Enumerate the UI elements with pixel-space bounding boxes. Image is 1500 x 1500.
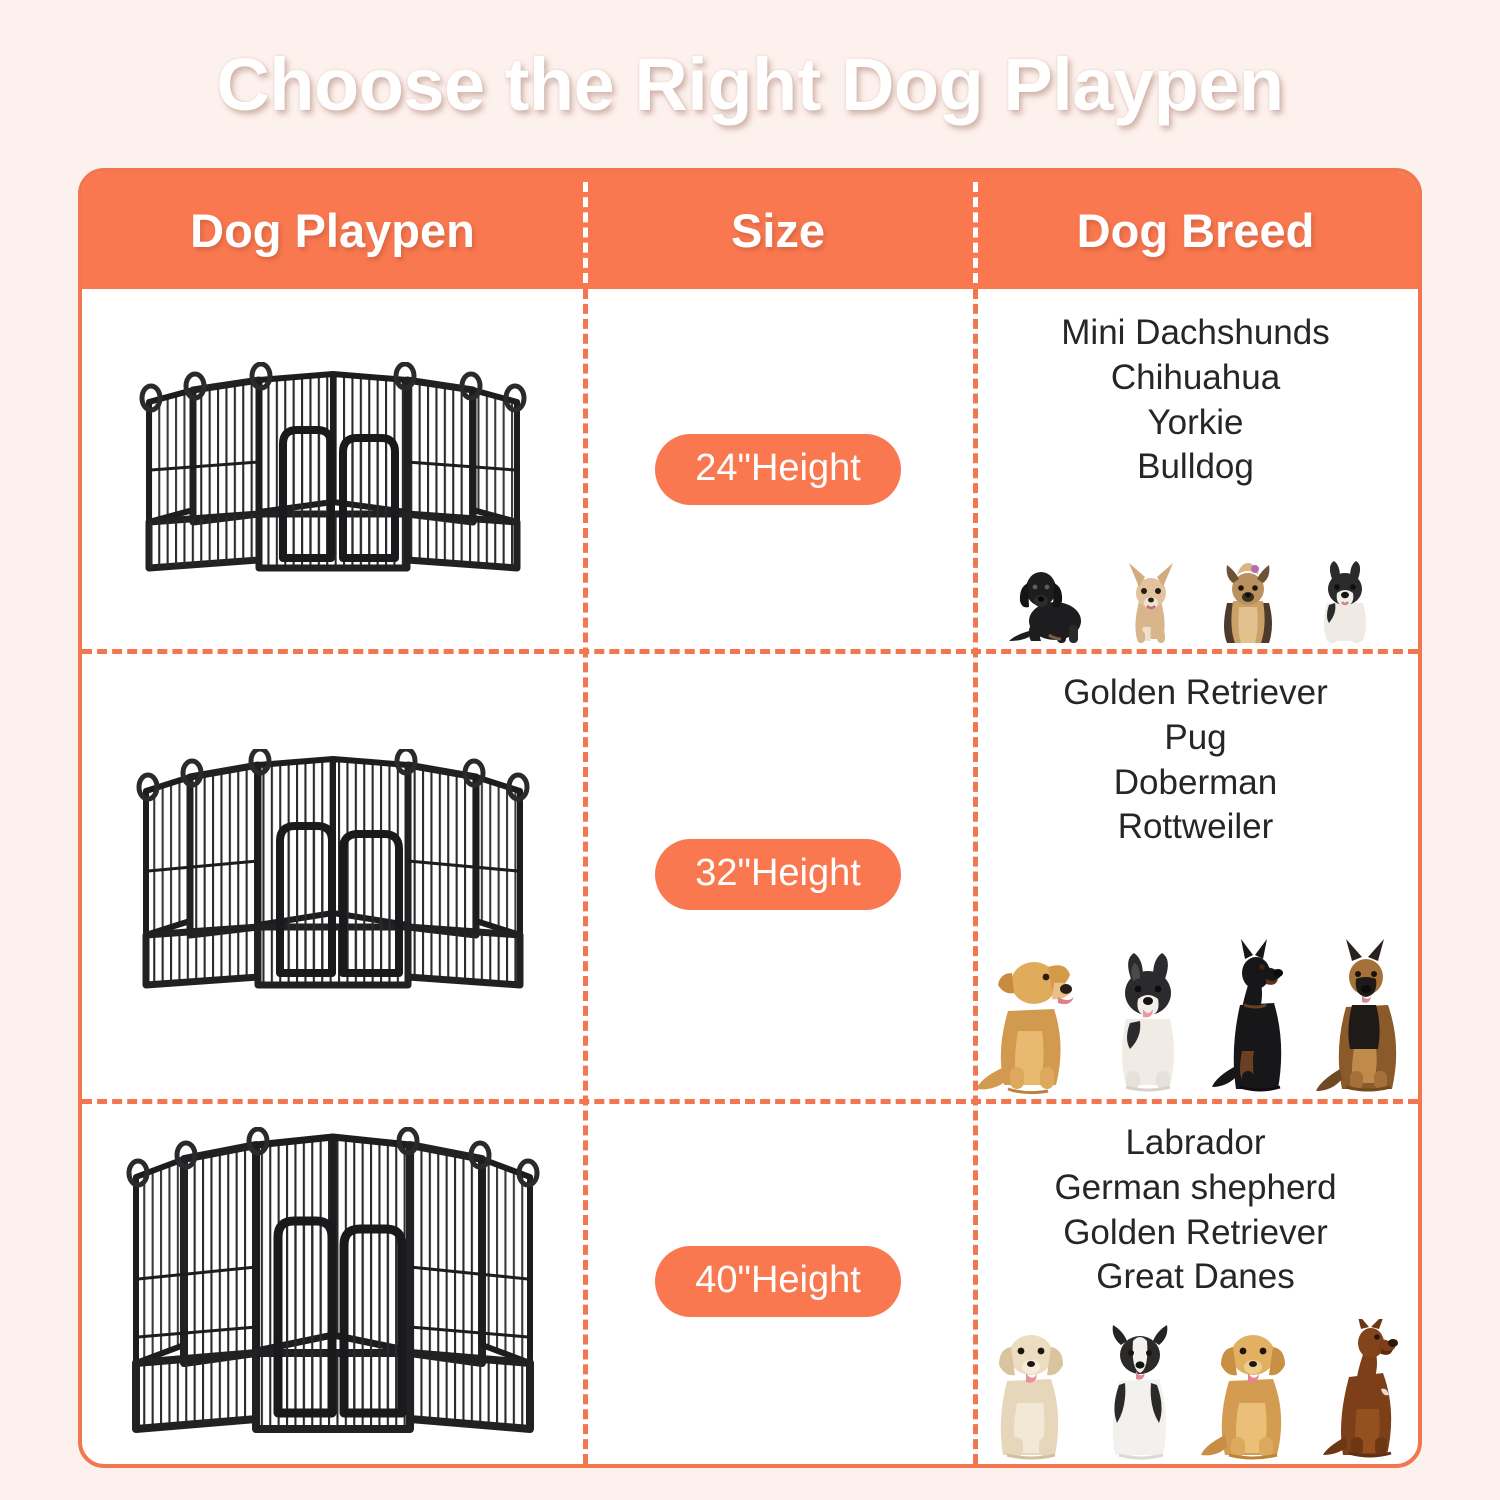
breed-item: Rottweiler bbox=[973, 805, 1418, 850]
border-collie-icon bbox=[1091, 1319, 1189, 1464]
doberman-icon bbox=[1204, 939, 1304, 1099]
size-cell: 40"Height bbox=[583, 1099, 973, 1464]
playpen-cell bbox=[82, 289, 583, 649]
size-badge: 32"Height bbox=[655, 839, 901, 910]
dog-playpen-40in-icon bbox=[82, 1099, 583, 1464]
header-dog-breed: Dog Breed bbox=[973, 172, 1418, 289]
size-badge: 40"Height bbox=[655, 1246, 901, 1317]
dog-playpen-32in-icon bbox=[82, 649, 583, 1099]
breed-item: German shepherd bbox=[973, 1166, 1418, 1211]
dog-photo-strip bbox=[973, 939, 1418, 1099]
size-cell: 32"Height bbox=[583, 649, 973, 1099]
breed-item: Bulldog bbox=[973, 445, 1418, 490]
breed-list: Labrador German shepherd Golden Retrieve… bbox=[973, 1099, 1418, 1300]
table-body: 24"Height Mini Dachshunds Chihuahua York… bbox=[82, 289, 1418, 1464]
german-shepherd-icon bbox=[1312, 939, 1418, 1099]
breed-item: Mini Dachshunds bbox=[973, 311, 1418, 356]
yorkie-icon bbox=[1203, 549, 1293, 649]
breed-item: Labrador bbox=[973, 1121, 1418, 1166]
breed-cell: Golden Retriever Pug Doberman Rottweiler bbox=[973, 649, 1418, 1099]
table-row: 24"Height Mini Dachshunds Chihuahua York… bbox=[82, 289, 1418, 649]
chihuahua-icon bbox=[1109, 549, 1195, 649]
row-divider-2 bbox=[82, 1099, 1418, 1104]
breed-item: Golden Retriever bbox=[973, 671, 1418, 716]
dachshund-icon bbox=[1005, 549, 1101, 649]
playpen-svg bbox=[128, 749, 538, 999]
breed-item: Doberman bbox=[973, 761, 1418, 806]
breed-item: Great Danes bbox=[973, 1255, 1418, 1300]
comparison-table: Dog Playpen Size Dog Breed bbox=[78, 168, 1422, 1468]
great-dane-icon bbox=[1315, 1319, 1415, 1464]
playpen-svg bbox=[133, 362, 533, 577]
golden-retriever-icon bbox=[1197, 1319, 1307, 1464]
breed-item: Yorkie bbox=[973, 401, 1418, 446]
playpen-cell bbox=[82, 1099, 583, 1464]
playpen-svg bbox=[118, 1127, 548, 1437]
table-header-row: Dog Playpen Size Dog Breed bbox=[82, 172, 1418, 289]
table-row: 40"Height Labrador German shepherd Golde… bbox=[82, 1099, 1418, 1464]
dog-playpen-24in-icon bbox=[82, 289, 583, 649]
dog-photo-strip bbox=[973, 1319, 1418, 1464]
size-badge: 24"Height bbox=[655, 434, 901, 505]
row-divider-1 bbox=[82, 649, 1418, 654]
breed-item: Golden Retriever bbox=[973, 1211, 1418, 1256]
french-bulldog-icon bbox=[1100, 939, 1196, 1099]
size-cell: 24"Height bbox=[583, 289, 973, 649]
playpen-cell bbox=[82, 649, 583, 1099]
breed-item: Pug bbox=[973, 716, 1418, 761]
labrador-icon bbox=[977, 1319, 1083, 1464]
golden-retriever-icon bbox=[974, 939, 1092, 1099]
breed-cell: Labrador German shepherd Golden Retrieve… bbox=[973, 1099, 1418, 1464]
header-size: Size bbox=[583, 172, 973, 289]
header-divider-2 bbox=[973, 182, 978, 283]
breed-list: Mini Dachshunds Chihuahua Yorkie Bulldog bbox=[973, 289, 1418, 490]
header-dog-playpen: Dog Playpen bbox=[82, 172, 583, 289]
dog-photo-strip bbox=[973, 549, 1418, 649]
header-divider-1 bbox=[583, 182, 588, 283]
french-bulldog-icon bbox=[1301, 549, 1387, 649]
breed-cell: Mini Dachshunds Chihuahua Yorkie Bulldog bbox=[973, 289, 1418, 649]
breed-list: Golden Retriever Pug Doberman Rottweiler bbox=[973, 649, 1418, 850]
breed-item: Chihuahua bbox=[973, 356, 1418, 401]
table-row: 32"Height Golden Retriever Pug Doberman … bbox=[82, 649, 1418, 1099]
page-title: Choose the Right Dog Playpen bbox=[0, 42, 1500, 127]
